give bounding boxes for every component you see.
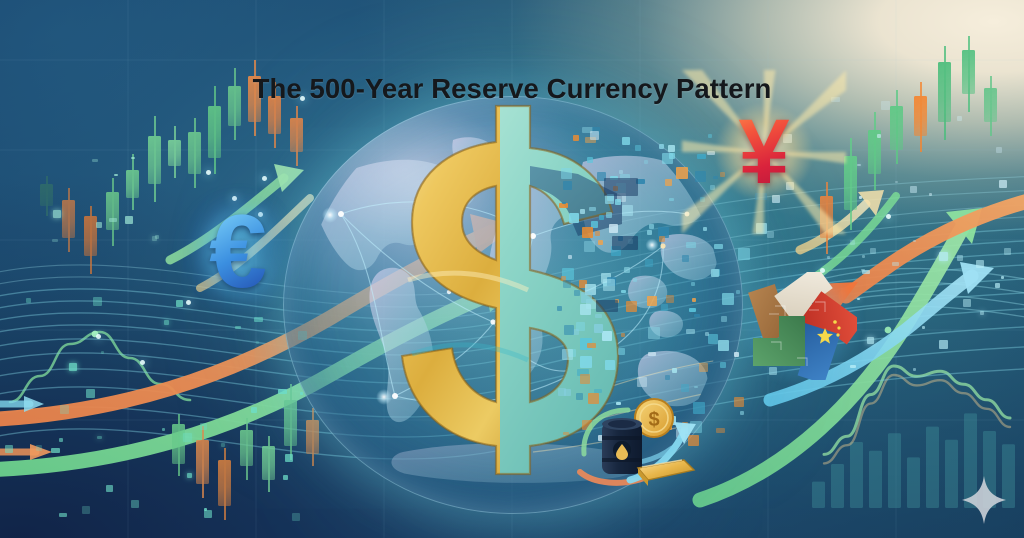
dissolve-pixel	[694, 314, 700, 317]
dissolve-pixel	[580, 209, 585, 214]
dissolve-pixel	[581, 292, 592, 303]
dissolve-pixel	[645, 259, 653, 267]
dissolve-pixel	[563, 432, 569, 435]
dissolve-pixel	[557, 306, 562, 311]
brics-emblem-icon	[745, 272, 857, 380]
dissolve-pixel	[699, 363, 708, 372]
commodities-cluster: $	[578, 396, 706, 488]
dissolve-pixel	[662, 153, 673, 164]
dissolve-pixel	[649, 224, 654, 229]
dissolve-pixel	[563, 280, 571, 288]
dissolve-pixel	[605, 195, 614, 204]
dissolve-pixel	[682, 255, 689, 262]
dissolve-pixel	[694, 386, 698, 388]
dissolve-pixel	[604, 178, 638, 196]
dissolve-pixel	[686, 242, 696, 248]
dissolve-pixel	[621, 290, 626, 293]
dissolve-pixel	[594, 324, 603, 333]
dissolve-pixel	[603, 279, 615, 291]
dissolve-pixel	[691, 282, 695, 286]
dissolve-pixel	[609, 224, 618, 233]
dissolve-pixel	[659, 144, 664, 149]
dissolve-pixel	[590, 131, 599, 140]
dissolve-pixel	[633, 278, 637, 282]
dissolve-pixel	[648, 352, 656, 356]
dissolve-pixel	[661, 304, 668, 311]
dissolve-pixel	[587, 157, 593, 163]
yen-glyph: ¥	[718, 106, 810, 198]
dissolve-pixel	[580, 374, 590, 384]
dissolve-pixel	[689, 308, 696, 312]
dissolve-pixel	[681, 384, 689, 392]
dissolve-pixel	[635, 145, 641, 151]
dissolve-pixel	[705, 332, 709, 336]
dissolve-pixel	[665, 375, 670, 380]
dissolve-pixel	[563, 181, 572, 190]
dissolve-pixel	[669, 198, 674, 201]
dissolve-pixel	[637, 377, 647, 387]
dissolve-pixel	[622, 205, 633, 216]
dissolve-pixel	[595, 231, 600, 236]
dissolve-pixel	[672, 368, 677, 373]
euro-glyph: €	[186, 196, 290, 308]
dissolve-pixel	[716, 428, 725, 433]
dissolve-pixel	[621, 333, 625, 337]
dissolve-pixel	[568, 255, 572, 259]
dissolve-pixel	[598, 240, 603, 245]
dissolve-pixel	[692, 298, 696, 302]
dissolve-pixel	[618, 348, 625, 355]
dissolve-pixel	[648, 327, 660, 339]
dissolve-pixel	[665, 179, 672, 186]
dissolve-pixel	[596, 300, 618, 312]
dissolve-pixel	[595, 314, 602, 318]
dissolve-pixel	[561, 168, 572, 179]
hero-banner: € ¥	[0, 0, 1024, 538]
svg-text:$: $	[648, 409, 659, 431]
dissolve-pixel	[615, 199, 621, 205]
dissolve-pixel	[686, 329, 695, 334]
dissolve-pixel	[644, 160, 648, 164]
dissolve-pixel	[602, 331, 612, 341]
dissolve-pixel	[622, 137, 630, 145]
dissolve-pixel	[624, 267, 630, 273]
dissolve-pixel	[599, 215, 604, 220]
dissolve-pixel	[574, 290, 580, 296]
dissolve-pixel	[606, 212, 612, 218]
dissolve-pixel	[612, 236, 638, 250]
dissolve-pixel	[589, 207, 596, 211]
dissolve-pixel	[562, 349, 573, 360]
dissolve-pixel	[584, 241, 595, 252]
yen-currency-icon: ¥	[718, 106, 810, 198]
dissolve-pixel	[647, 296, 657, 306]
dissolve-pixel	[594, 389, 602, 393]
dissolve-pixel	[666, 295, 674, 303]
dissolve-pixel	[740, 411, 744, 415]
page-title: The 500-Year Reserve Currency Pattern	[0, 74, 1024, 105]
dissolve-pixel	[626, 301, 637, 312]
dissolve-pixel	[573, 135, 579, 141]
euro-currency-icon: €	[186, 196, 290, 308]
dissolve-pixel	[668, 145, 675, 152]
sparkle-icon	[962, 476, 1006, 524]
dissolve-pixel	[564, 325, 574, 335]
dissolve-pixel	[647, 230, 652, 235]
dissolve-pixel	[587, 343, 596, 348]
gold-bar-icon	[638, 460, 694, 486]
dissolve-pixel	[580, 356, 592, 368]
dissolve-pixel	[562, 202, 566, 204]
dissolve-pixel	[569, 213, 579, 223]
oil-barrel-icon	[602, 418, 642, 474]
dissolve-pixel	[605, 360, 615, 370]
dissolve-pixel	[659, 236, 665, 242]
dissolve-pixel	[582, 227, 593, 238]
dissolve-pixel	[558, 388, 566, 396]
